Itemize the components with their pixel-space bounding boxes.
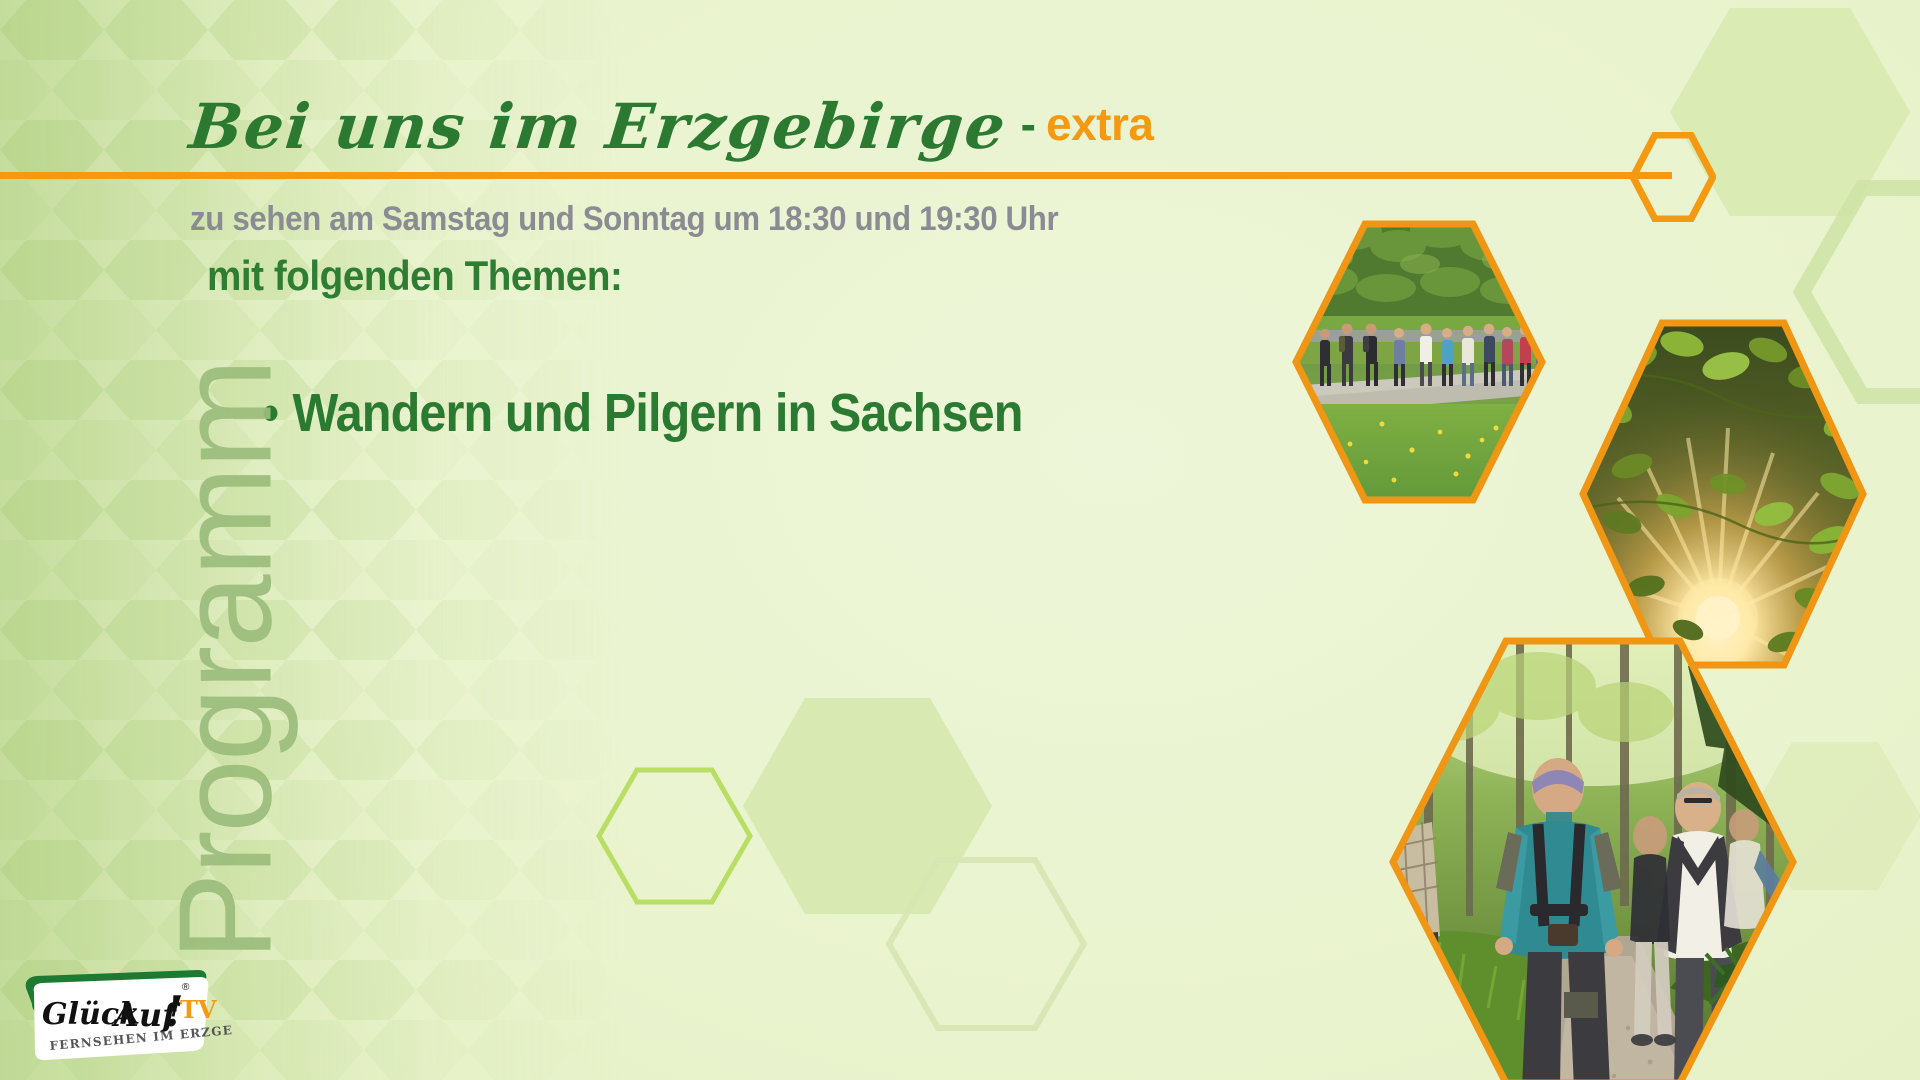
topics-intro-text: mit folgenden Themen: (207, 252, 622, 300)
page-title: Bei uns im Erzgebirge-extra (190, 96, 1153, 158)
logo-glueckauf-tv[interactable]: Glück Auf ! ® TV FERNSEHEN IM ERZGEBIRGE (22, 968, 232, 1068)
list-item: •Wandern und Pilgern in Sachsen (262, 380, 1023, 448)
photo-sunbeams-through-leaves (1578, 318, 1868, 670)
logo-tv: TV (180, 995, 217, 1024)
section-label-programm: Programm (150, 331, 301, 991)
topic-label: Wandern und Pilgern in Sachsen (293, 383, 1023, 443)
topics-list: •Wandern und Pilgern in Sachsen (262, 380, 1107, 448)
hexagon-outline-orange (1630, 132, 1716, 222)
header-divider-rule (0, 172, 1672, 179)
photo-hikers-in-forest (1388, 636, 1798, 1080)
airtime-text: zu sehen am Samstag und Sonntag um 18:30… (190, 200, 1058, 239)
program-slide: Bei uns im Erzgebirge-extra zu sehen am … (0, 0, 1920, 1080)
logo-registered-mark: ® (182, 982, 190, 993)
page-title-dash: - (1021, 101, 1036, 147)
page-title-extra: extra (1046, 101, 1153, 147)
page-title-main: Bei uns im Erzgebirge (187, 96, 1010, 158)
photo-hiking-group-on-path (1290, 218, 1548, 506)
